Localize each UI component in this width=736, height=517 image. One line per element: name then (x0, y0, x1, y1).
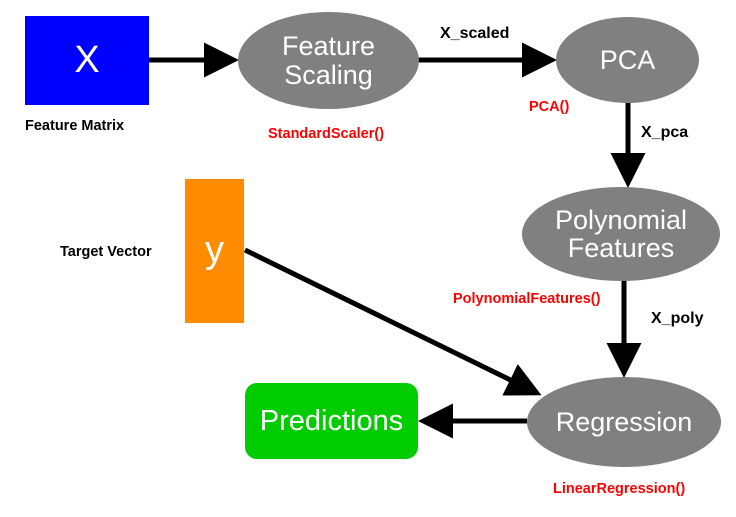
code-label-pca: PCA() (529, 99, 569, 115)
node-polynomial-features-label-line1: Polynomial (555, 206, 687, 234)
code-label-linear-regression: LinearRegression() (553, 481, 685, 497)
node-polynomial-features[interactable]: Polynomial Features (522, 187, 720, 281)
node-regression[interactable]: Regression (527, 377, 721, 467)
edge-label-x-scaled: X_scaled (440, 25, 509, 43)
arrow-y-to-regression (245, 250, 537, 393)
diagram-canvas: X Feature Matrix y Target Vector Feature… (0, 0, 736, 517)
node-feature-matrix[interactable]: X (25, 16, 149, 105)
node-regression-label: Regression (556, 408, 693, 436)
node-polynomial-features-label: Polynomial Features (555, 206, 687, 263)
node-predictions-label: Predictions (260, 406, 403, 436)
node-target-vector-label: y (205, 231, 224, 271)
node-feature-matrix-label: X (74, 41, 99, 81)
node-feature-scaling-label-line2: Scaling (282, 61, 375, 89)
code-label-standard-scaler: StandardScaler() (268, 126, 384, 142)
node-feature-scaling[interactable]: Feature Scaling (238, 12, 419, 109)
edge-label-x-pca: X_pca (641, 124, 688, 142)
node-target-vector[interactable]: y (185, 179, 244, 323)
node-pca-label: PCA (600, 46, 656, 74)
caption-feature-matrix: Feature Matrix (25, 118, 124, 134)
node-pca[interactable]: PCA (556, 17, 699, 103)
code-label-polynomial-features: PolynomialFeatures() (453, 291, 600, 307)
node-feature-scaling-label-line1: Feature (282, 32, 375, 60)
caption-target-vector: Target Vector (60, 244, 152, 260)
node-feature-scaling-label: Feature Scaling (282, 32, 375, 89)
edge-label-x-poly: X_poly (651, 310, 703, 328)
node-polynomial-features-label-line2: Features (555, 234, 687, 262)
node-predictions[interactable]: Predictions (245, 383, 418, 459)
